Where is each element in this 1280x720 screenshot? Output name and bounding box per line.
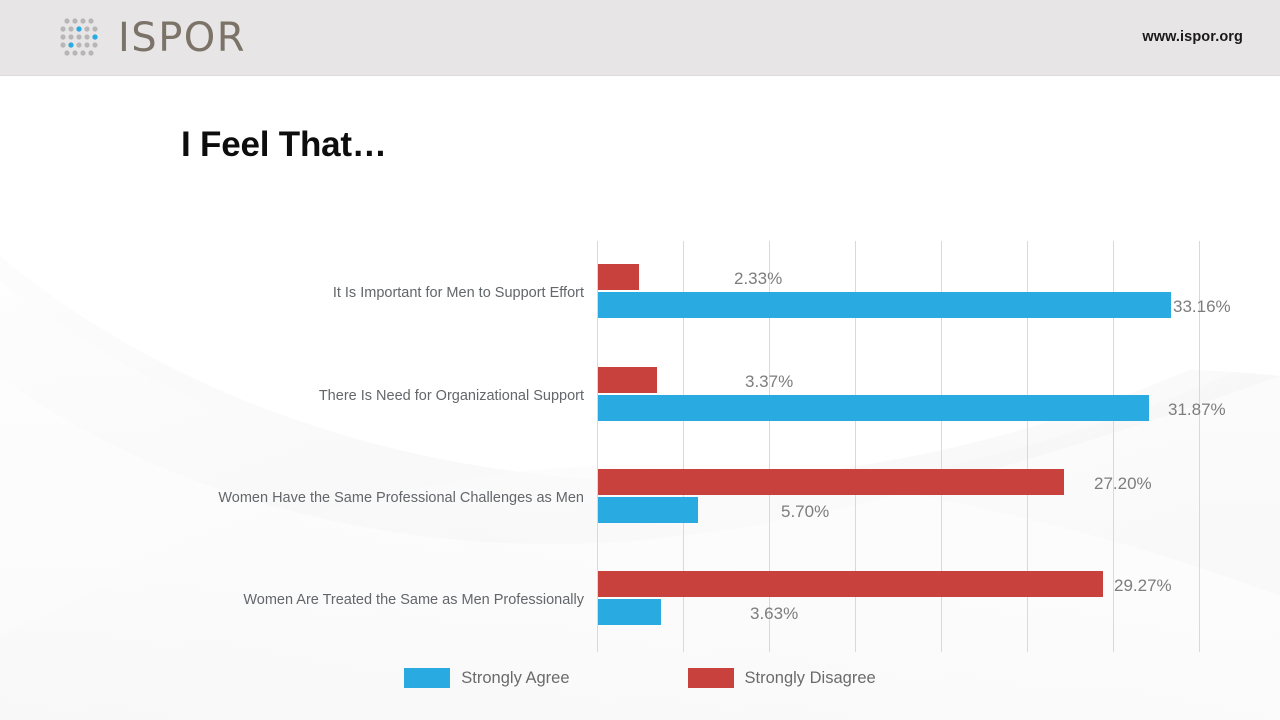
chart-bar-value-label: 3.63% bbox=[750, 605, 798, 622]
chart-category-label: It Is Important for Men to Support Effor… bbox=[333, 286, 584, 301]
chart-bar-disagree[interactable] bbox=[598, 571, 1103, 597]
legend-swatch-disagree-icon bbox=[688, 668, 734, 688]
chart-bar-value-label: 2.33% bbox=[734, 270, 782, 287]
chart-bar-value-label: 5.70% bbox=[781, 503, 829, 520]
chart-bar-disagree[interactable] bbox=[598, 469, 1064, 495]
chart-legend: Strongly AgreeStrongly Disagree bbox=[0, 668, 1280, 688]
chart-bar-value-label: 27.20% bbox=[1094, 475, 1152, 492]
bar-chart: It Is Important for Men to Support Effor… bbox=[0, 0, 1280, 720]
chart-category-label: Women Have the Same Professional Challen… bbox=[218, 491, 584, 506]
chart-bar-value-label: 3.37% bbox=[745, 373, 793, 390]
chart-category-label: Women Are Treated the Same as Men Profes… bbox=[243, 593, 584, 608]
legend-item[interactable]: Strongly Disagree bbox=[688, 668, 876, 688]
chart-bar-agree[interactable] bbox=[598, 292, 1171, 318]
chart-bar-value-label: 31.87% bbox=[1168, 401, 1226, 418]
slide: ISPOR www.ispor.org I Feel That… It Is I… bbox=[0, 0, 1280, 720]
legend-label: Strongly Disagree bbox=[745, 670, 876, 687]
chart-bar-disagree[interactable] bbox=[598, 367, 657, 393]
chart-bar-value-label: 33.16% bbox=[1173, 298, 1231, 315]
legend-label: Strongly Agree bbox=[461, 670, 569, 687]
legend-item[interactable]: Strongly Agree bbox=[404, 668, 569, 688]
chart-category-label: There Is Need for Organizational Support bbox=[319, 389, 584, 404]
chart-bar-disagree[interactable] bbox=[598, 264, 639, 290]
chart-bar-agree[interactable] bbox=[598, 599, 661, 625]
chart-bar-agree[interactable] bbox=[598, 395, 1149, 421]
legend-swatch-agree-icon bbox=[404, 668, 450, 688]
chart-bar-value-label: 29.27% bbox=[1114, 577, 1172, 594]
chart-bar-agree[interactable] bbox=[598, 497, 698, 523]
